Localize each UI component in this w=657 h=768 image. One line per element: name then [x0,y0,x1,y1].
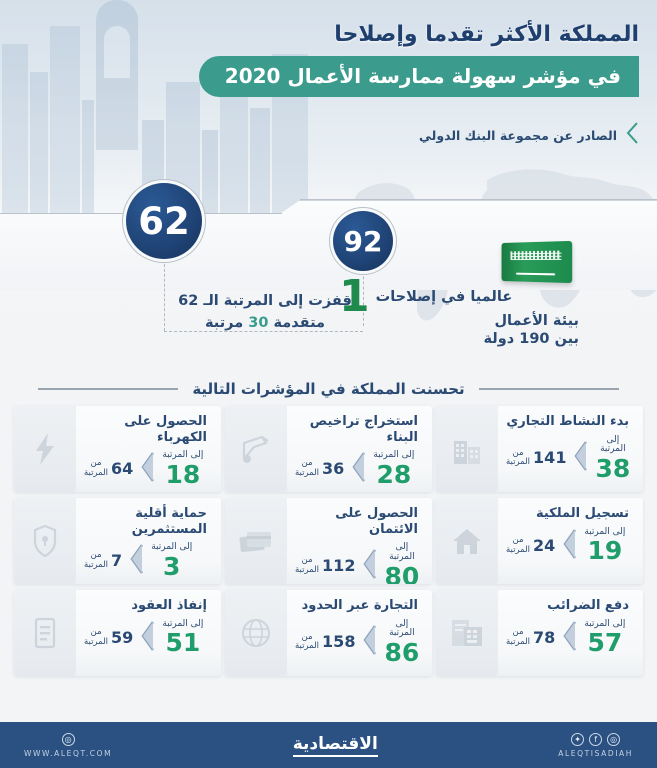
indicator-title: إنفاذ العقود [84,598,207,614]
from-word: من [302,632,313,642]
from-word: من [302,555,313,565]
indicator-ranks: إلى المرتبة37منالمرتبة [84,543,207,579]
indicator-title: الحصول على الكهرباء [84,414,207,445]
from-rank-label: منالمرتبة [295,633,319,653]
indicator-old-rank-block: 64منالمرتبة [84,459,133,479]
shield-icon [14,498,76,584]
facebook-icon[interactable]: f [589,733,602,746]
indicator-title: الحصول على الائتمان [295,506,418,537]
indicator-old-rank: 141 [533,450,566,466]
divider-right [38,388,178,390]
office-building-icon [436,406,498,492]
from-rank-label: منالمرتبة [506,536,530,556]
title-block: المملكة الأكثر تقدما وإصلاحا في مؤشر سهو… [217,22,639,97]
jump-positions-count: 30 [248,315,268,331]
indicator-card: دفع الضرائبإلى المرتبة5778منالمرتبة [436,590,643,676]
from-rank-label: منالمرتبة [84,628,108,648]
from-word: من [91,458,102,468]
indicator-new-rank-block: إلى المرتبة3 [151,543,192,579]
page-title: المملكة الأكثر تقدما وإصلاحا [217,22,639,47]
indicator-new-rank: 38 [595,456,630,481]
indicator-title: استخراج تراخيص البناء [295,414,418,445]
ribbon-line-right [300,199,657,200]
rank-circle-new: 62 [126,183,202,259]
social-icon-row[interactable]: ◎f✦ [571,733,620,746]
footer-url[interactable]: WWW.ALEQT.COM [24,749,112,758]
indicator-ranks: إلى المرتبة86158منالمرتبة [295,620,418,666]
rank-word: المرتبة [84,637,108,647]
indicator-new-rank: 18 [162,462,203,487]
indicator-new-rank: 86 [384,640,419,665]
rank-word: المرتبة [506,545,530,555]
left-arrow-icon [361,625,378,659]
indicator-new-rank-block: إلى المرتبة18 [162,451,203,487]
global-rank-block: عالميا في إصلاحات 1 بيئة الأعمال بين 190… [339,278,579,347]
indicator-new-rank-block: إلى المرتبة28 [373,451,414,487]
footer-social-block: ◎f✦ ALEQTISADIAH [558,733,633,758]
indicator-ranks: إلى المرتبة2836منالمرتبة [295,451,418,487]
rank-word: المرتبة [295,641,319,651]
house-icon [436,498,498,584]
from-rank-label: منالمرتبة [84,551,108,571]
indicator-new-rank: 51 [162,630,203,655]
indicator-old-rank: 7 [111,553,122,569]
indicator-old-rank: 64 [111,461,133,477]
saudi-flag-icon [502,241,573,283]
rank-word: المرتبة [506,457,530,467]
indicator-card: تسجيل الملكيةإلى المرتبة1924منالمرتبة [436,498,643,584]
indicator-new-rank-block: إلى المرتبة51 [162,620,203,656]
from-word: من [91,627,102,637]
indicator-new-rank-block: إلى المرتبة38 [595,436,630,482]
indicator-title: بدء النشاط التجاري [506,414,629,430]
left-arrow-icon [139,452,156,486]
indicator-card: بدء النشاط التجاريإلى المرتبة38141منالمر… [436,406,643,492]
global-rank-line-2: بيئة الأعمال [339,313,579,329]
indicator-ranks: إلى المرتبة38141منالمرتبة [506,436,629,482]
section-title: تحسنت المملكة في المؤشرات التالية [192,380,464,398]
indicator-new-rank: 19 [584,538,625,563]
to-rank-label: إلى المرتبة [384,620,419,640]
source-line: الصادر عن مجموعة البنك الدولي [419,122,639,148]
rank-word: المرتبة [295,565,319,575]
indicator-old-rank-block: 59منالمرتبة [84,628,133,648]
footer-handle: ALEQTISADIAH [558,749,633,758]
rank-word: المرتبة [84,468,108,478]
indicator-new-rank-block: إلى المرتبة57 [584,620,625,656]
instagram-icon[interactable]: ◎ [607,733,620,746]
indicator-old-rank: 158 [322,634,355,650]
indicator-title: تسجيل الملكية [506,506,629,522]
footer-website-block: ◎ WWW.ALEQT.COM [24,733,112,758]
left-arrow-icon [572,441,589,475]
indicator-old-rank-block: 7منالمرتبة [84,551,122,571]
from-word: من [302,458,313,468]
from-word: من [513,535,524,545]
indicator-old-rank-block: 24منالمرتبة [506,536,555,556]
rank-circle-old: 92 [333,211,393,271]
registered-icon: ◎ [62,733,75,746]
credit-cards-icon [225,498,287,584]
jump-prefix: متقدمة [273,315,324,331]
to-rank-label: إلى المرتبة [595,436,630,456]
indicator-ranks: إلى المرتبة5159منالمرتبة [84,620,207,656]
from-rank-label: منالمرتبة [506,449,530,469]
from-rank-label: منالمرتبة [295,556,319,576]
contract-document-icon [14,590,76,676]
jump-suffix: مرتبة [205,315,243,331]
indicator-card: الحصول على الائتمانإلى المرتبة80112منالم… [225,498,432,584]
indicator-card: إنفاذ العقودإلى المرتبة5159منالمرتبة [14,590,221,676]
twitter-icon[interactable]: ✦ [571,733,584,746]
lightning-bolt-icon [14,406,76,492]
rank-word: المرتبة [295,468,319,478]
page-subtitle-band: في مؤشر سهولة ممارسة الأعمال 2020 [199,56,639,97]
indicator-new-rank: 28 [373,462,414,487]
rank-word: المرتبة [84,560,108,570]
divider-left [479,388,619,390]
indicator-old-rank: 59 [111,630,133,646]
indicator-new-rank-block: إلى المرتبة86 [384,620,419,666]
indicator-old-rank: 36 [322,461,344,477]
global-rank-line-3: بين 190 دولة [339,331,579,347]
indicator-title: التجارة عبر الحدود [295,598,418,614]
footer-bar: ◎f✦ ALEQTISADIAH الاقتصادية ◎ WWW.ALEQT.… [0,722,657,768]
indicator-new-rank: 57 [584,630,625,655]
from-word: من [513,448,524,458]
left-arrow-icon [561,529,578,563]
footer-brand: الاقتصادية [293,734,378,757]
indicator-title: دفع الضرائب [506,598,629,614]
indicator-ranks: إلى المرتبة1864منالمرتبة [84,451,207,487]
indicator-card: استخراج تراخيص البناءإلى المرتبة2836منال… [225,406,432,492]
global-rank-number: 1 [339,278,370,315]
crane-icon [225,406,287,492]
to-rank-label: إلى المرتبة [384,543,419,563]
indicator-title: حماية أقلية المستثمرين [84,506,207,537]
indicator-old-rank: 112 [322,558,355,574]
indicator-old-rank-block: 158منالمرتبة [295,633,355,653]
indicator-card: حماية أقلية المستثمرينإلى المرتبة37منالم… [14,498,221,584]
indicator-grid: بدء النشاط التجاريإلى المرتبة38141منالمر… [14,406,643,676]
indicator-new-rank-block: إلى المرتبة80 [384,543,419,584]
source-text: الصادر عن مجموعة البنك الدولي [419,128,617,143]
indicator-ranks: إلى المرتبة80112منالمرتبة [295,543,418,584]
chevron-left-icon [625,122,639,148]
from-rank-label: منالمرتبة [84,459,108,479]
indicator-old-rank: 78 [533,630,555,646]
from-word: من [91,550,102,560]
left-arrow-icon [128,544,145,578]
indicator-new-rank: 80 [384,564,419,584]
indicator-old-rank-block: 78منالمرتبة [506,628,555,648]
rank-word: المرتبة [506,637,530,647]
globe-icon [225,590,287,676]
global-rank-line-1: عالميا في إصلاحات [376,289,513,305]
from-rank-label: منالمرتبة [506,628,530,648]
hero-section: المملكة الأكثر تقدما وإصلاحا في مؤشر سهو… [0,0,657,368]
indicator-old-rank-block: 141منالمرتبة [506,449,566,469]
from-word: من [513,627,524,637]
indicator-old-rank: 24 [533,538,555,554]
indicator-old-rank-block: 36منالمرتبة [295,459,344,479]
indicators-section-header: تحسنت المملكة في المؤشرات التالية [0,372,657,406]
left-arrow-icon [561,621,578,655]
tax-documents-icon [436,590,498,676]
from-rank-label: منالمرتبة [295,459,319,479]
left-arrow-icon [361,549,378,583]
indicator-card: التجارة عبر الحدودإلى المرتبة86158منالمر… [225,590,432,676]
indicator-ranks: إلى المرتبة1924منالمرتبة [506,528,629,564]
indicator-new-rank: 3 [151,554,192,579]
left-arrow-icon [139,621,156,655]
indicator-old-rank-block: 112منالمرتبة [295,556,355,576]
infographic-page: المملكة الأكثر تقدما وإصلاحا في مؤشر سهو… [0,0,657,768]
indicator-card: الحصول على الكهرباءإلى المرتبة1864منالمر… [14,406,221,492]
indicator-new-rank-block: إلى المرتبة19 [584,528,625,564]
left-arrow-icon [350,452,367,486]
indicator-ranks: إلى المرتبة5778منالمرتبة [506,620,629,656]
